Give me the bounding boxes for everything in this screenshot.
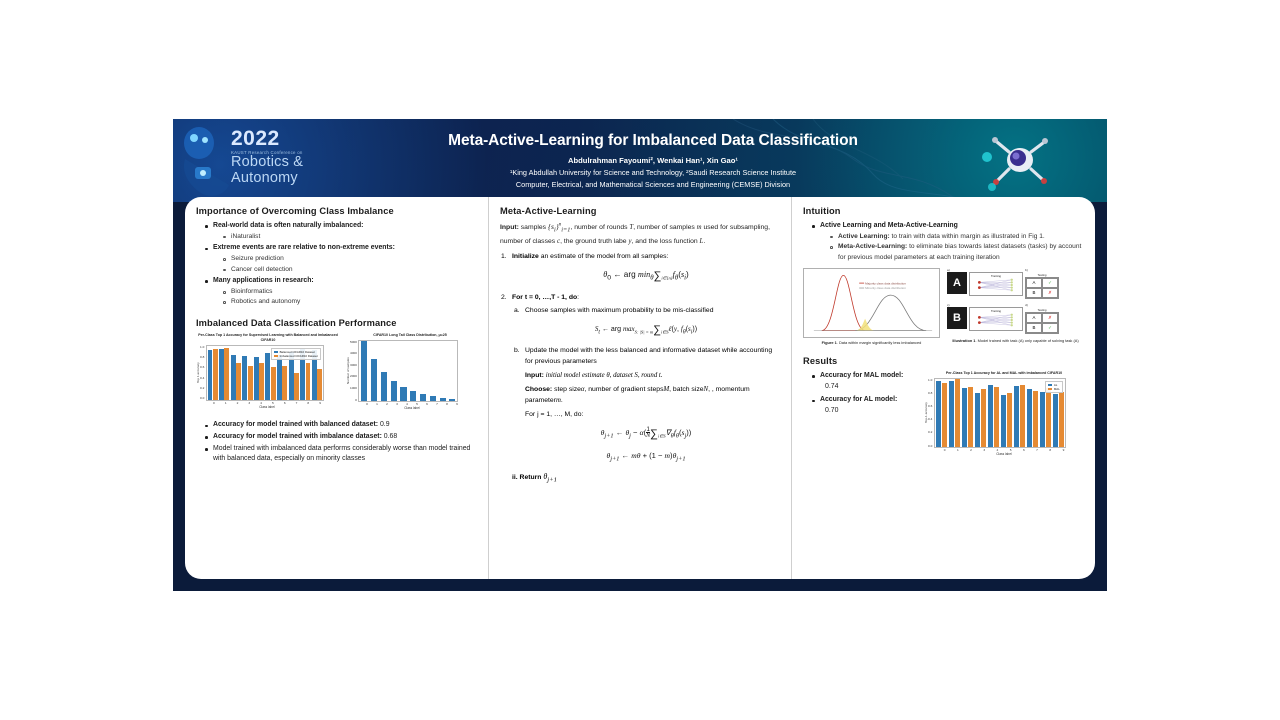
section-title-meta-active-learning: Meta-Active-Learning — [500, 206, 780, 216]
bar — [361, 341, 367, 401]
samples-notation: {si}ni=1 — [548, 222, 570, 231]
bullet-text: Real-world data is often naturally imbal… — [213, 222, 363, 229]
choose-line: Choose: step sizeα, number of gradient s… — [525, 384, 780, 406]
bar — [449, 399, 455, 401]
x-tick-label: 5 — [1004, 448, 1017, 452]
x-tick-label: 4 — [402, 402, 412, 406]
section-title-results: Results — [803, 356, 1084, 366]
bar-group — [948, 379, 961, 447]
sub-list: Bioinformatics Robotics and autonomy — [223, 287, 477, 308]
table-row: ✓ — [1042, 278, 1058, 288]
bar-group — [1013, 379, 1026, 447]
list-item: Model trained with imbalanced data perfo… — [205, 444, 477, 465]
bar-group — [230, 346, 242, 400]
sub-list: Seizure prediction Cancer cell detection — [223, 254, 477, 275]
table-row: B — [1026, 288, 1042, 298]
bar — [265, 353, 270, 400]
list-item: Extreme events are rare relative to non-… — [205, 243, 477, 275]
y-tick-label: 0.8 — [200, 355, 204, 359]
x-tick-label: 3 — [243, 401, 255, 405]
bar — [936, 381, 941, 446]
poster-header: 2022 KAUST Research Conference on Roboti… — [173, 119, 1107, 202]
algorithm-steps: 1. Initialize an estimate of the model f… — [512, 251, 780, 487]
bar — [400, 387, 406, 401]
task-square-a: A — [947, 272, 967, 294]
illustration-grid: a) A Training — [947, 268, 1084, 336]
logo-line-1: Robotics & — [231, 155, 361, 171]
panel-label: c) — [947, 303, 950, 307]
y-tick-label: 1.0 — [928, 378, 932, 382]
bar — [248, 366, 253, 400]
bar — [1020, 385, 1025, 447]
bar — [430, 396, 436, 400]
bullet-text: Extreme events are rare relative to non-… — [213, 244, 395, 251]
poster-title-block: Meta-Active-Learning for Imbalanced Data… — [373, 132, 933, 189]
meta-active-learning-label: Meta-Active-Learning: — [838, 243, 907, 250]
chart-xlabel: Class label — [362, 406, 462, 410]
list-item: Accuracy for AL model: 0.70 — [812, 395, 920, 416]
x-tick-label: 6 — [279, 401, 291, 405]
x-tick-label: 3 — [978, 448, 991, 452]
bar — [942, 383, 947, 446]
result-label: Accuracy for AL model: — [820, 396, 897, 403]
step-2b-text: Update the model with the less balanced … — [525, 347, 772, 365]
x-tick-label: 3 — [392, 402, 402, 406]
x-tick-label: 6 — [422, 402, 432, 406]
x-tick-label: 9 — [452, 402, 462, 406]
bar-group — [207, 346, 219, 400]
chart-legend: AL MAL — [1045, 381, 1062, 394]
step-2b-input-text: initial model estimate θ, dataset S, rou… — [546, 372, 663, 379]
illustration-1: a) A Training — [947, 268, 1084, 345]
inner-for-text: For j = 1, …, M, do: — [525, 411, 583, 418]
x-tick-label: 6 — [1017, 448, 1030, 452]
sub-list: iNaturalist — [223, 232, 477, 243]
bar-group — [961, 379, 974, 447]
symbol-N: N — [704, 386, 709, 393]
section-title-importance: Importance of Overcoming Class Imbalance — [196, 206, 477, 216]
x-tick-label: 7 — [291, 401, 303, 405]
step-number: 2. — [501, 292, 507, 303]
y-tick-label: 0.4 — [928, 417, 932, 421]
bar — [213, 349, 218, 400]
return-label: ii. Return — [512, 474, 541, 481]
importance-bullet-list: Real-world data is often naturally imbal… — [205, 221, 477, 308]
list-item: Accuracy for MAL model: 0.74 — [812, 371, 920, 392]
figure-1-caption-text: . Data within margin significantly less … — [837, 340, 922, 345]
section-title-intuition: Intuition — [803, 206, 1084, 216]
return-statement: ii. Return θj+1 — [512, 471, 780, 486]
illustration-panel-a: a) A Training — [947, 268, 1023, 301]
panel-label: a) — [947, 268, 950, 272]
x-tick-label: 4 — [991, 448, 1004, 452]
illustration-panel-c: c) B Training — [947, 303, 1023, 336]
x-tick-label: 9 — [314, 401, 326, 405]
step-2a: a. Choose samples with maximum probabili… — [525, 305, 780, 316]
table-row: ✓ — [1042, 323, 1058, 333]
bar-group — [359, 341, 369, 401]
bar-group — [1000, 379, 1013, 447]
bar — [371, 359, 377, 400]
chart-per-class-balanced: Per-Class Top 1 Accuracy for Supervised … — [196, 333, 340, 410]
step-letter: b. — [514, 345, 520, 356]
results-row: Accuracy for MAL model: 0.74 Accuracy fo… — [803, 371, 1084, 456]
illustration-caption-bold: Illustration 1 — [952, 338, 975, 343]
choose-text: , number of gradient steps — [585, 386, 664, 393]
figure-1-caption-bold: Figure 1 — [822, 340, 837, 345]
bar — [219, 349, 224, 400]
y-tick-label: 0.0 — [200, 396, 204, 400]
bar — [1059, 392, 1064, 446]
affiliation-line-2: Computer, Electrical, and Mathematical S… — [373, 180, 933, 190]
choose-text: step size — [554, 386, 581, 393]
equation-2: St ← arg maxS: |S| = m∑i∈Sℓ(y, fθ(si)) — [512, 322, 780, 340]
x-tick-label: 0 — [362, 402, 372, 406]
y-tick-label: 5000 — [350, 340, 357, 344]
result-value: 0.68 — [384, 433, 397, 440]
chart-x-ticks: 0123456789 — [938, 448, 1070, 452]
list-item: Accuracy for model trained with balanced… — [205, 420, 477, 431]
x-tick-label: 8 — [442, 402, 452, 406]
chart-x-ticks: 0123456789 — [208, 401, 326, 405]
x-tick-label: 7 — [1030, 448, 1043, 452]
y-tick-label: 0.2 — [928, 430, 932, 434]
x-tick-label: 8 — [1044, 448, 1057, 452]
bar-group — [242, 346, 254, 400]
active-learning-text: to train with data within margin as illu… — [892, 233, 1045, 240]
step-2a-text: Choose samples with maximum probability … — [525, 307, 714, 314]
gaussian-distribution-chart: Majority class data distribution Minorit… — [804, 269, 939, 337]
chart-x-ticks: 0123456789 — [362, 402, 462, 406]
y-tick-label: 1.0 — [200, 345, 204, 349]
bar — [410, 391, 416, 400]
x-tick-label: 8 — [302, 401, 314, 405]
symbol-m: m — [697, 224, 702, 231]
chart-ylabel: Top-1 accuracy — [924, 378, 928, 448]
chart-xlabel: Class label — [208, 405, 326, 409]
list-item: Accuracy for model trained with imbalanc… — [205, 432, 477, 443]
bar-group — [438, 341, 448, 401]
bar — [381, 372, 387, 401]
list-item: Active Learning and Meta-Active-Learning… — [812, 221, 1084, 263]
y-tick-label: 0.6 — [200, 365, 204, 369]
input-label: Input: — [500, 224, 519, 231]
bar-group — [428, 341, 438, 401]
x-tick-label: 9 — [1057, 448, 1070, 452]
bar — [994, 387, 999, 447]
bar — [1033, 391, 1038, 447]
bar — [271, 367, 276, 400]
x-tick-label: 1 — [220, 401, 232, 405]
result-value: 0.70 — [825, 406, 920, 417]
poster-body: Importance of Overcoming Class Imbalance… — [185, 197, 1095, 579]
bar — [1014, 386, 1019, 447]
symbol-L: L — [700, 238, 704, 245]
figure-1-frame: Majority class data distribution Minorit… — [803, 268, 940, 338]
network-edges — [970, 313, 1022, 327]
bar — [988, 385, 993, 446]
bar — [294, 373, 299, 400]
step-2: 2. For t = 0, …,T - 1, do: — [512, 292, 780, 303]
table-row: ✗ — [1042, 288, 1058, 298]
y-tick-label: 4000 — [350, 351, 357, 355]
symbol-momentum: m — [556, 397, 561, 404]
chart-plot-area: AL MAL — [934, 378, 1066, 448]
x-tick-label: 5 — [267, 401, 279, 405]
conference-poster: 2022 KAUST Research Conference on Roboti… — [173, 119, 1107, 591]
bar-group — [987, 379, 1000, 447]
bar — [1046, 388, 1051, 446]
list-item: Cancer cell detection — [223, 265, 477, 276]
step-2b-input: Input: initial model estimate θ, dataset… — [525, 370, 780, 381]
y-tick-label: 1000 — [350, 386, 357, 390]
bar — [962, 388, 967, 446]
logo-line-2: Autonomy — [231, 171, 361, 187]
bar — [981, 389, 986, 447]
input-label: Input: — [525, 372, 544, 379]
chart-title: Per-Class Top 1 Accuracy for AL and MAL … — [924, 371, 1084, 376]
bar — [254, 357, 259, 400]
neural-net-diagram-a: Training — [969, 272, 1023, 296]
bar — [259, 363, 264, 399]
inner-for-loop: For j = 1, …, M, do: — [525, 409, 780, 420]
list-item: Seizure prediction — [223, 254, 477, 265]
figure-1-caption: Figure 1. Data within margin significant… — [803, 340, 940, 345]
bar — [317, 369, 322, 399]
panel-label: d) — [1025, 303, 1028, 307]
y-tick-label: 0.2 — [200, 386, 204, 390]
bar — [277, 355, 282, 400]
active-learning-label: Active Learning: — [838, 233, 890, 240]
neural-net-diagram-b: Training — [969, 307, 1023, 331]
chart-plot-area — [358, 340, 458, 402]
author-list: Abdulrahman Fayoumi², Wenkai Han¹, Xin G… — [373, 156, 933, 165]
bar — [236, 363, 241, 399]
column-left: Importance of Overcoming Class Imbalance… — [185, 197, 488, 579]
column-right: Intuition Active Learning and Meta-Activ… — [792, 197, 1095, 579]
bar — [1007, 393, 1012, 447]
chart-plot-area: Balanced CIFAR10 Dataset Imbalanced CIFA… — [206, 345, 324, 401]
bar-group — [1026, 379, 1039, 447]
bar — [391, 381, 397, 401]
legend-label: Imbalanced CIFAR10 Dataset — [280, 354, 318, 358]
list-item: Bioinformatics — [223, 287, 477, 298]
x-tick-label: 0 — [938, 448, 951, 452]
table-row: A — [1026, 313, 1042, 323]
equation-4: θj+1 ← mθ + (1 − m)θj+1 — [512, 450, 780, 465]
y-tick-label: 0.4 — [200, 376, 204, 380]
x-tick-label: 1 — [951, 448, 964, 452]
chart-title: Per-Class Top 1 Accuracy for Supervised … — [196, 333, 340, 343]
bar — [975, 393, 980, 447]
bar-group — [369, 341, 379, 401]
illustration-panel-b: b) Testing A ✓ B ✗ — [1025, 268, 1084, 301]
sub-list: Active Learning: to train with data with… — [830, 232, 1084, 264]
logo-year: 2022 — [231, 128, 361, 149]
task-square-b: B — [947, 307, 967, 329]
algorithm-input-block: Input: samples {si}ni=1, number of round… — [500, 221, 780, 247]
step-2-keyword: For t = 0, …,T - 1, do — [512, 294, 577, 301]
y-tick-label: 0 — [355, 398, 357, 402]
result-label: Accuracy for model trained with imbalanc… — [213, 433, 382, 440]
column-middle: Meta-Active-Learning Input: samples {si}… — [488, 197, 792, 579]
x-tick-label: 2 — [232, 401, 244, 405]
y-tick-label: 3000 — [350, 363, 357, 367]
input-text: , and the loss function — [632, 238, 698, 245]
result-value: 0.9 — [380, 421, 390, 428]
bar-group — [253, 346, 265, 400]
bar-group — [448, 341, 458, 401]
step-1-keyword: Initialize — [512, 253, 539, 260]
network-edges — [970, 278, 1022, 292]
step-1-text: an estimate of the model from all sample… — [541, 253, 669, 260]
x-tick-label: 5 — [412, 402, 422, 406]
y-tick-label: 0.0 — [928, 444, 932, 448]
chart-legend: Balanced CIFAR10 Dataset Imbalanced CIFA… — [271, 348, 321, 361]
y-tick-label: 0.8 — [928, 391, 932, 395]
list-item: Real-world data is often naturally imbal… — [205, 221, 477, 242]
bar-group — [389, 341, 399, 401]
y-tick-label: 0.6 — [928, 404, 932, 408]
bar — [1040, 392, 1045, 447]
bar — [1027, 389, 1032, 447]
bar-group — [418, 341, 428, 401]
chart-al-vs-mal: Per-Class Top 1 Accuracy for AL and MAL … — [924, 371, 1084, 456]
result-label: Accuracy for model trained with balanced… — [213, 421, 378, 428]
illustration-1-caption: Illustration 1. Model trained with task … — [947, 338, 1084, 343]
step-2b: b. Update the model with the less balanc… — [525, 345, 780, 420]
bar — [231, 355, 236, 399]
choose-text: , batch size — [669, 386, 703, 393]
table-row: B — [1026, 323, 1042, 333]
table-row: A — [1026, 278, 1042, 288]
bar — [1001, 395, 1006, 447]
x-tick-label: 2 — [964, 448, 977, 452]
bar-group — [935, 379, 948, 447]
panel-label: b) — [1025, 268, 1028, 272]
x-tick-label: 4 — [255, 401, 267, 405]
left-chart-row: Per-Class Top 1 Accuracy for Supervised … — [196, 333, 477, 410]
chart-ylabel: Number of samples — [346, 340, 350, 402]
bar — [242, 356, 247, 399]
step-number: 1. — [501, 251, 507, 262]
input-text: , number of samples — [633, 224, 695, 231]
figure-1: Majority class data distribution Minorit… — [803, 268, 940, 345]
drone-robot-icon — [975, 127, 1065, 197]
y-tick-label: 2000 — [350, 374, 357, 378]
legend-majority: Majority class data distribution — [865, 282, 906, 286]
step-letter: a. — [514, 305, 520, 316]
list-item: Many applications in research: Bioinform… — [205, 276, 477, 308]
input-text: samples — [521, 224, 546, 231]
table-row: ✗ — [1042, 313, 1058, 323]
bar-group — [974, 379, 987, 447]
bar — [440, 398, 446, 401]
bar — [282, 366, 287, 399]
chart-ylabel: Top 1 accuracy — [196, 345, 200, 401]
step-1: 1. Initialize an estimate of the model f… — [512, 251, 780, 262]
affiliation-line-1: ¹King Abdullah University for Science an… — [373, 168, 933, 178]
results-bullet-list: Accuracy for MAL model: 0.74 Accuracy fo… — [812, 371, 920, 418]
list-item: Robotics and autonomy — [223, 297, 477, 308]
result-value: 0.74 — [825, 382, 920, 393]
poster-title: Meta-Active-Learning for Imbalanced Data… — [373, 132, 933, 150]
chart-title: CIFAR10 Long Tail Class Distribution, μ=… — [346, 333, 474, 338]
x-tick-label: 7 — [432, 402, 442, 406]
performance-results-list: Accuracy for model trained with balanced… — [205, 420, 477, 465]
x-tick-label: 1 — [372, 402, 382, 406]
illustration-panel-d: d) Testing A ✗ B ✓ — [1025, 303, 1084, 336]
choose-label: Choose: — [525, 386, 552, 393]
input-text: , the ground truth labe — [560, 238, 627, 245]
illustration-caption-text: . Model trained with task (A) only capab… — [975, 338, 1078, 343]
chart-long-tail-distribution: CIFAR10 Long Tail Class Distribution, μ=… — [346, 333, 474, 410]
equation-3: θj+1 ← θj − α(1N∑i∈S∇θfθ(sj)) — [512, 426, 780, 444]
input-text: , number of rounds — [570, 224, 627, 231]
robot-icon — [175, 123, 235, 199]
bar — [949, 381, 954, 447]
bullet-text: Many applications in research: — [213, 277, 314, 284]
bar — [208, 350, 213, 400]
figure-row: Majority class data distribution Minorit… — [803, 268, 1084, 345]
list-item: iNaturalist — [223, 232, 477, 243]
bar — [1053, 394, 1058, 446]
testing-result-table-d: A ✗ B ✓ — [1025, 312, 1059, 334]
bullet-text: Active Learning and Meta-Active-Learning — [820, 222, 958, 229]
chart-xlabel: Class label — [938, 452, 1070, 456]
bar — [955, 379, 960, 446]
return-value: θj+1 — [543, 472, 557, 481]
chart-y-ticks: 500040003000200010000 — [350, 340, 358, 402]
testing-result-table-b: A ✓ B ✗ — [1025, 277, 1059, 299]
legend-minority: Minority class data distribution — [865, 287, 906, 291]
bar-group — [218, 346, 230, 400]
legend-label: MAL — [1054, 387, 1060, 391]
intuition-bullet-list: Active Learning and Meta-Active-Learning… — [812, 221, 1084, 263]
list-item: Meta-Active-Learning: to eliminate bias … — [830, 242, 1084, 263]
bar-group — [399, 341, 409, 401]
list-item: Active Learning: to train with data with… — [830, 232, 1084, 243]
bar — [224, 348, 229, 400]
bar — [420, 394, 426, 400]
bar — [968, 387, 973, 447]
conference-logo: 2022 KAUST Research Conference on Roboti… — [231, 128, 361, 186]
bar-group — [379, 341, 389, 401]
x-tick-label: 0 — [208, 401, 220, 405]
result-label: Accuracy for MAL model: — [820, 372, 903, 379]
section-title-performance: Imbalanced Data Classification Performan… — [196, 318, 477, 328]
bar-group — [408, 341, 418, 401]
x-tick-label: 2 — [382, 402, 392, 406]
bar — [306, 363, 311, 400]
equation-1: θ0 ← arg minθ∑i∈[n]fθ(si) — [512, 268, 780, 286]
